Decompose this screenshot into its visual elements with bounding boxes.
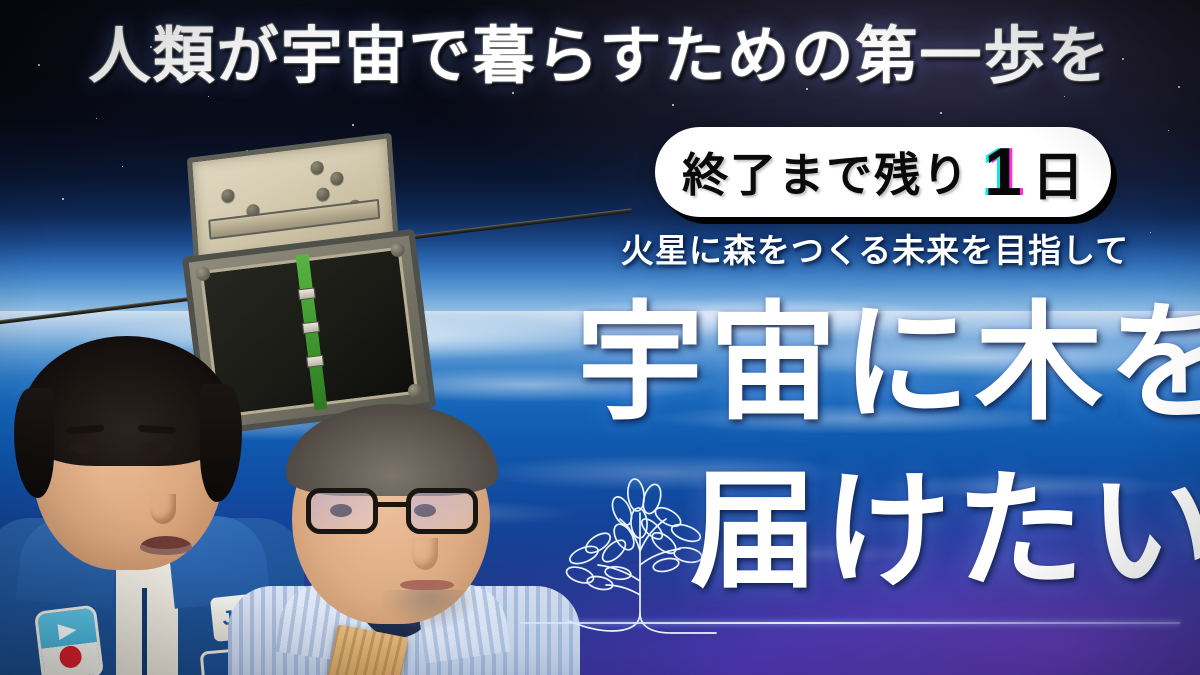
countdown-prefix: 終了まで残り	[682, 139, 970, 205]
countdown-number: 1	[984, 138, 1022, 206]
countdown-unit: 日	[1032, 135, 1084, 210]
subtitle: 火星に森をつくる未来を目指して	[560, 236, 1190, 269]
main-title-line-1: 宇宙に木を	[576, 300, 1200, 428]
campaign-thumbnail: JAXA	[0, 0, 1200, 675]
main-title-line-2: 届けたい	[690, 468, 1200, 596]
headline-top: 人類が宇宙で暮らすための第一歩を	[0, 26, 1200, 88]
countdown-badge: 終了まで残り 1 日	[655, 127, 1111, 217]
